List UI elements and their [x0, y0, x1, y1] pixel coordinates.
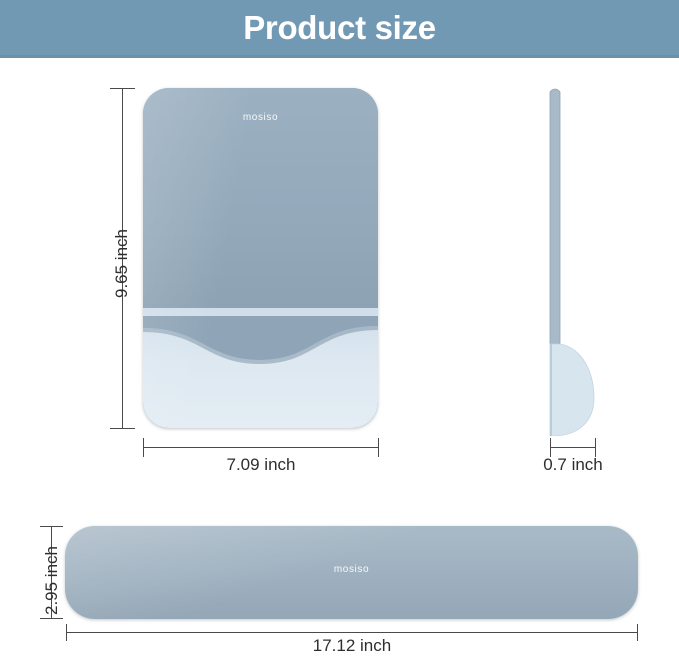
dimension-label-pad-width: 7.09 inch	[0, 455, 522, 475]
dimension-line-pad-width	[143, 447, 379, 448]
brand-logo-mouse-pad: mosiso	[143, 112, 378, 123]
dimension-tick-rest-height-top	[40, 526, 63, 527]
dimension-tick-pad-height-top	[110, 88, 135, 89]
mouse-pad-divider-curve	[143, 316, 378, 376]
dimension-line-rest-width	[66, 632, 638, 633]
mouse-pad-side-view	[520, 86, 640, 436]
dimension-line-pad-thickness	[550, 447, 596, 448]
dimension-label-pad-height: 9.65 inch	[112, 229, 132, 298]
header-banner: Product size	[0, 0, 679, 58]
keyboard-wrist-rest-view: mosiso	[65, 526, 638, 619]
dimension-tick-pad-height-bottom	[110, 428, 135, 429]
brand-logo-keyboard-rest: mosiso	[65, 564, 638, 575]
dimension-label-pad-thickness: 0.7 inch	[512, 455, 634, 475]
mouse-pad-front-view: mosiso	[143, 88, 378, 428]
dimension-label-rest-height: 2.95 inch	[42, 546, 62, 615]
mouse-pad-profile-shape	[520, 86, 640, 436]
dimension-tick-rest-height-bottom	[40, 618, 63, 619]
page-title: Product size	[0, 0, 679, 58]
dimension-label-rest-width: 17.12 inch	[66, 636, 638, 656]
